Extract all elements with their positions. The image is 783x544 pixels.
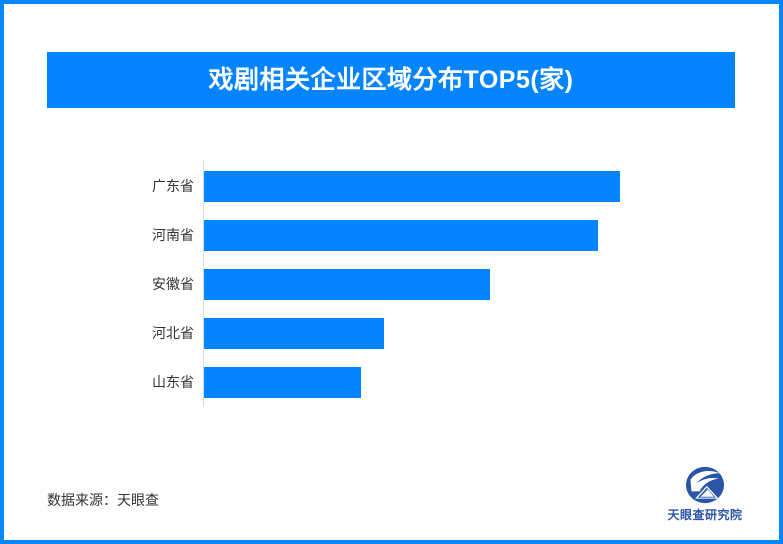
bar-label-3: 河北省 [47,318,194,349]
bar-label-0: 广东省 [47,171,194,202]
bar-fill-3[interactable] [204,318,384,349]
bar-track-1 [204,220,735,251]
bar-label-4: 山东省 [47,367,194,398]
bar-track-2 [204,269,735,300]
title-banner: 戏剧相关企业区域分布TOP5(家) [47,52,735,108]
bar-track-4 [204,367,735,398]
bar-row[interactable]: 河北省 [47,318,735,349]
bar-track-0 [204,171,735,202]
page-title: 戏剧相关企业区域分布TOP5(家) [209,68,574,93]
bar-row[interactable]: 广东省 [47,171,735,202]
bar-row[interactable]: 安徽省 [47,269,735,300]
bar-track-3 [204,318,735,349]
data-source-note: 数据来源：天眼查 [47,490,159,510]
bar-chart: 广东省 河南省 安徽省 河北省 山东省 [47,154,735,416]
bar-row[interactable]: 河南省 [47,220,735,251]
brand-logo: 天眼查研究院 [659,466,751,524]
bar-label-1: 河南省 [47,220,194,251]
eagle-eye-logo-icon [682,466,728,504]
infographic-card: 戏剧相关企业区域分布TOP5(家) 广东省 河南省 安徽省 河北省 [0,0,783,544]
bar-label-2: 安徽省 [47,269,194,300]
bar-fill-1[interactable] [204,220,598,251]
bar-fill-0[interactable] [204,171,620,202]
bar-fill-2[interactable] [204,269,490,300]
bar-fill-4[interactable] [204,367,361,398]
bar-row[interactable]: 山东省 [47,367,735,398]
brand-logo-text: 天眼查研究院 [667,506,742,523]
